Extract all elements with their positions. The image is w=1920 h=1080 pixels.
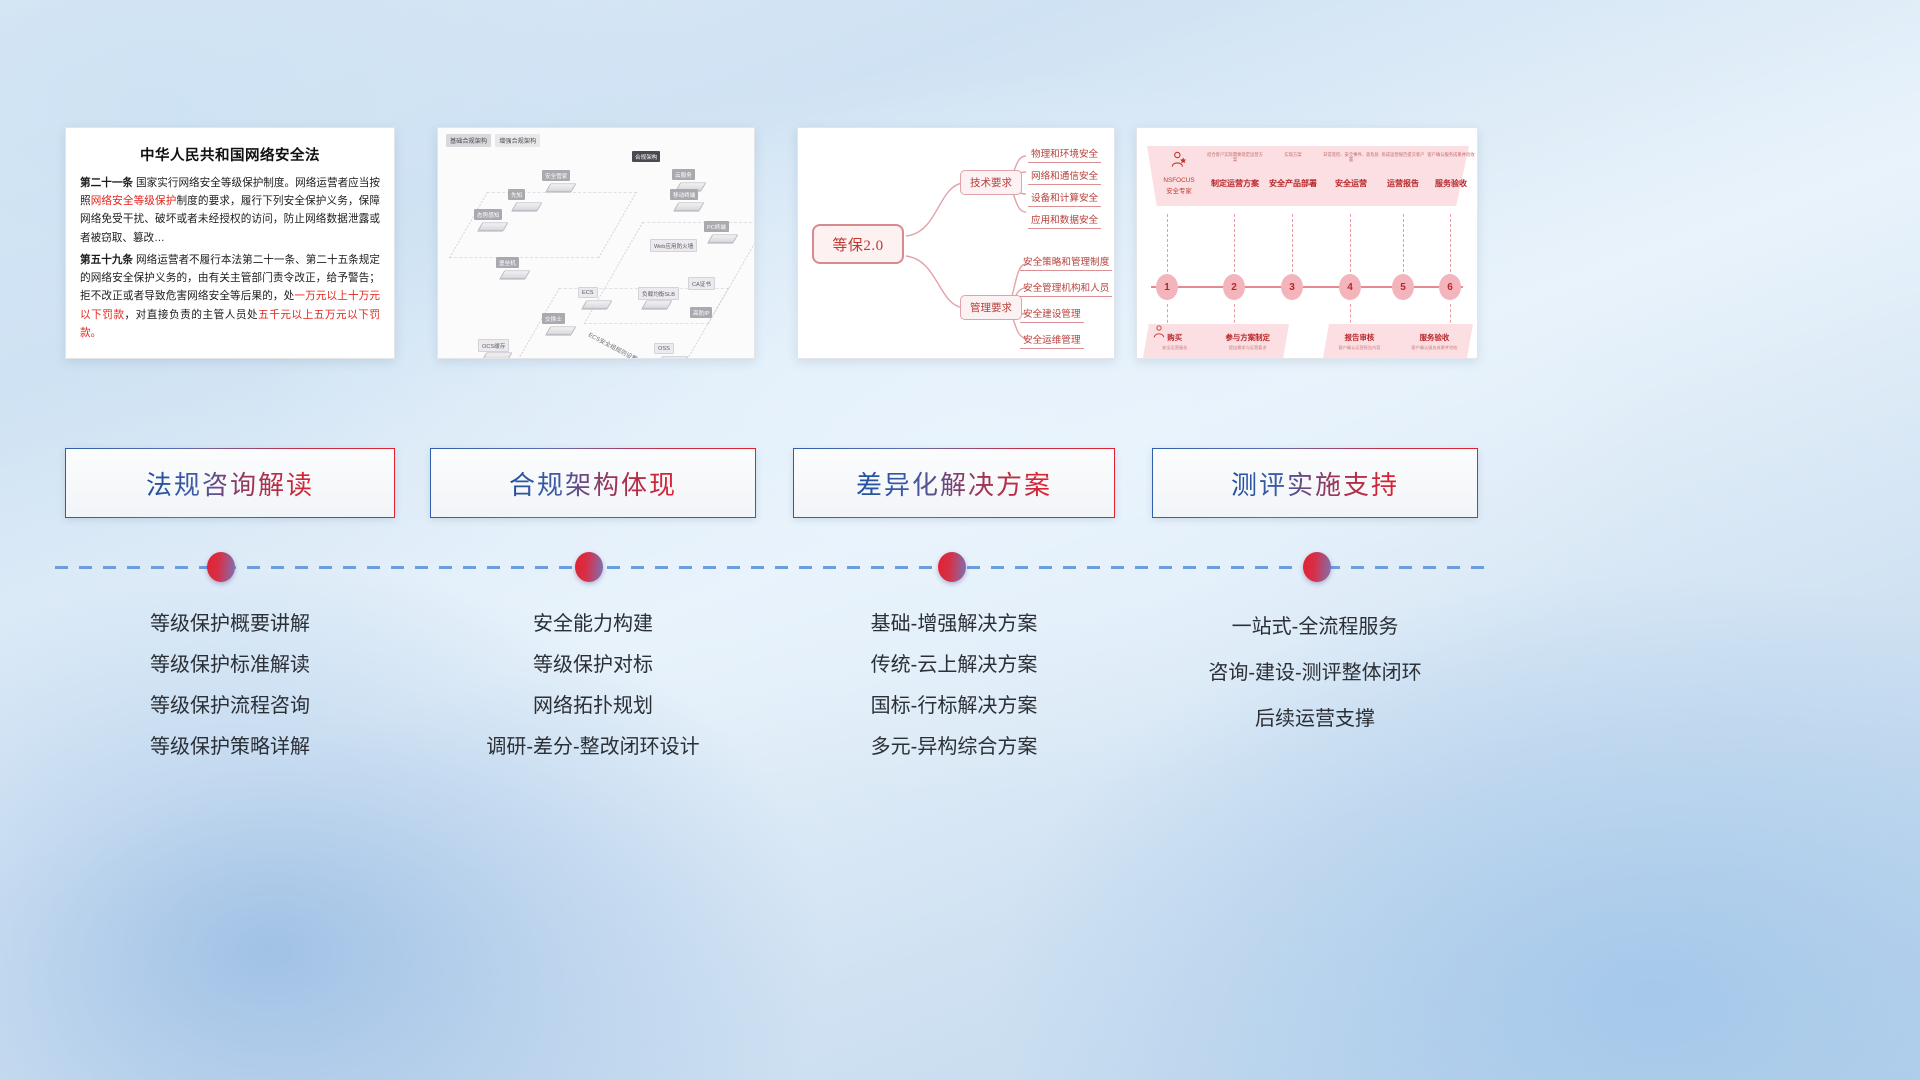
node-label: ECS	[578, 287, 598, 298]
step-number: 5	[1392, 274, 1414, 300]
step-dash	[1292, 214, 1293, 272]
law-article-59: 第五十九条 网络运营者不履行本法第二十一条、第二十五条规定的网络安全保护义务的，…	[80, 251, 380, 342]
mindmap-leaf: 物理和环境安全	[1028, 146, 1101, 163]
section-heading-box-2[interactable]: 合规架构体现	[430, 448, 756, 518]
node-label: 高防IP	[690, 307, 712, 318]
node-label: PC终端	[704, 221, 729, 232]
node-glyph	[642, 300, 673, 308]
section-list-3: 基础-增强解决方案 传统-云上解决方案 国标-行标解决方案 多元-异构综合方案	[793, 604, 1115, 768]
step-sub: 日常巡检、安全事件、高危处置	[1323, 152, 1379, 166]
mindmap: 等保2.0 技术要求 管理要求 物理和环境安全 网络和通信安全 设备和计算安全 …	[798, 128, 1114, 358]
section-heading-label: 测评实施支持	[1231, 465, 1399, 502]
timeline-dot-2[interactable]	[575, 552, 603, 582]
law-article-21: 第二十一条 国家实行网络安全等级保护制度。网络运营者应当按照网络安全等级保护制度…	[80, 174, 380, 247]
node-glyph	[582, 300, 613, 308]
nsfocus-expert: NSFOCUS 安全专家	[1155, 150, 1203, 196]
section-list-2: 安全能力构建 等级保护对标 网络拓扑规划 调研-差分-整改闭环设计	[430, 604, 756, 768]
list-item: 调研-差分-整改闭环设计	[430, 727, 756, 768]
list-item: 一站式-全流程服务	[1152, 604, 1478, 650]
timeline-dot-4[interactable]	[1303, 552, 1331, 582]
footer-sub: 提出需求与运营要求	[1226, 345, 1270, 350]
mindmap-leaf: 安全运维管理	[1020, 332, 1084, 349]
footer-item: 参与方案制定 提出需求与运营要求	[1222, 332, 1274, 350]
step-title: 制定运营方案	[1207, 178, 1263, 189]
list-item: 等级保护对标	[430, 645, 756, 686]
list-item: 等级保护策略详解	[65, 727, 395, 768]
node-label: 交换士	[542, 313, 565, 324]
mindmap-branch-management: 管理要求	[960, 295, 1022, 320]
mindmap-branch-technical: 技术要求	[960, 170, 1022, 195]
nsfocus-timeline: NSFOCUS 安全专家 结合客户实际需要现定运营方案 制定运营方案 实现方案 …	[1137, 128, 1477, 358]
article-59-text-b: ，对直接负责的主管人员处	[125, 309, 259, 321]
node-label: OCS缓存	[478, 339, 509, 352]
nsfocus-step-col: 日常巡检、安全事件、高危处置 安全运营	[1323, 152, 1379, 189]
step-title: 安全运营	[1323, 178, 1379, 189]
node-label: Web应用防火墙	[650, 239, 697, 252]
step-dash	[1234, 214, 1235, 272]
list-item: 基础-增强解决方案	[793, 604, 1115, 645]
node-glyph	[708, 234, 739, 242]
step-dash	[1403, 214, 1404, 272]
topology-node: OCS缓存	[484, 350, 510, 359]
topology-tabs: 基础合规架构 增强合规架构	[446, 134, 540, 147]
list-item: 等级保护流程咨询	[65, 686, 395, 727]
nsfocus-brand: NSFOCUS	[1155, 177, 1203, 186]
section-heading-label: 合规架构体现	[509, 465, 677, 502]
node-label: 先知	[508, 189, 525, 200]
footer-item: 服务验收 客户确认服务成果并验收	[1407, 332, 1461, 350]
section-heading-label: 差异化解决方案	[856, 465, 1052, 502]
section-heading-box-1[interactable]: 法规咨询解读	[65, 448, 395, 518]
list-item: 咨询-建设-测评整体闭环	[1152, 650, 1478, 696]
list-item: 传统-云上解决方案	[793, 645, 1115, 686]
article-59-label: 第五十九条	[80, 254, 133, 266]
card-mindmap-dengbao: 等保2.0 技术要求 管理要求 物理和环境安全 网络和通信安全 设备和计算安全 …	[797, 127, 1115, 359]
node-label: 安全管家	[542, 170, 570, 181]
card-compliance-architecture: 基础合规架构 增强合规架构 态势感知 先知 安全管家 堡垒机 合规架构 云服务 …	[437, 127, 755, 359]
mindmap-leaf: 安全管理机构和人员	[1020, 280, 1112, 297]
topology-tab-basic[interactable]: 基础合规架构	[446, 134, 491, 147]
section-list-4: 一站式-全流程服务 咨询-建设-测评整体闭环 后续运营支撑	[1152, 604, 1478, 742]
nsfocus-step-col: 结合客户实际需要现定运营方案 制定运营方案	[1207, 152, 1263, 189]
list-item: 多元-异构综合方案	[793, 727, 1115, 768]
card-nsfocus-service-timeline: NSFOCUS 安全专家 结合客户实际需要现定运营方案 制定运营方案 实现方案 …	[1136, 127, 1478, 359]
topology-node: ECS	[584, 298, 610, 311]
node-glyph	[658, 356, 689, 359]
timeline-axis	[1151, 286, 1463, 288]
node-glyph	[674, 202, 705, 210]
node-label: OSS	[654, 343, 674, 354]
node-glyph	[482, 352, 513, 359]
step-number: 2	[1223, 274, 1245, 300]
topology-node: PC终端	[710, 232, 736, 245]
customer-person-icon	[1151, 324, 1167, 345]
law-title: 中华人民共和国网络安全法	[80, 144, 380, 165]
step-number: 6	[1439, 274, 1461, 300]
footer-title: 服务验收	[1411, 332, 1457, 343]
nsfocus-brand-sub: 安全专家	[1155, 188, 1203, 197]
step-title: 安全产品部署	[1265, 178, 1321, 189]
nsfocus-footer-right: 报告审核 客户确认运营报告内容 服务验收 客户确认服务成果并验收	[1323, 324, 1473, 358]
node-label: 负载均衡SLB	[638, 287, 679, 300]
mindmap-root: 等保2.0	[812, 224, 904, 264]
topology-node: 移动终端	[676, 200, 702, 213]
step-dash	[1167, 214, 1168, 272]
timeline-dot-1[interactable]	[207, 552, 235, 582]
list-item: 等级保护标准解读	[65, 645, 395, 686]
section-heading-box-3[interactable]: 差异化解决方案	[793, 448, 1115, 518]
mindmap-leaf: 安全策略和管理制度	[1020, 254, 1112, 271]
topology-node: 安全管家	[548, 181, 574, 194]
step-sub: 客户确认服务成果并验收	[1423, 152, 1478, 166]
footer-item: 报告审核 客户确认运营报告内容	[1335, 332, 1385, 350]
node-label: 堡垒机	[496, 257, 519, 268]
topology-node: 先知	[514, 200, 540, 213]
node-label: 合规架构	[632, 151, 660, 162]
card-network-security-law: 中华人民共和国网络安全法 第二十一条 国家实行网络安全等级保护制度。网络运营者应…	[65, 127, 395, 359]
step-dash	[1350, 214, 1351, 272]
node-glyph	[546, 183, 577, 191]
topology-node: 堡垒机	[502, 268, 528, 281]
timeline-dashed-line	[55, 566, 1485, 569]
node-label: CA证书	[688, 277, 715, 290]
section-heading-box-4[interactable]: 测评实施支持	[1152, 448, 1478, 518]
topology-tab-enhanced[interactable]: 增强合规架构	[495, 134, 540, 147]
node-label: 态势感知	[474, 209, 502, 220]
section-heading-label: 法规咨询解读	[146, 465, 314, 502]
node-glyph	[512, 202, 543, 210]
mindmap-leaf: 网络和通信安全	[1028, 168, 1101, 185]
topology-plate-a	[449, 192, 637, 258]
topology-node: 交换士	[548, 324, 574, 337]
nsfocus-step-col: 客户确认服务成果并验收 服务验收	[1423, 152, 1478, 189]
mindmap-leaf: 安全建设管理	[1020, 306, 1084, 323]
list-item: 后续运营支撑	[1152, 696, 1478, 742]
topology-node: OSS	[660, 354, 686, 359]
step-title: 服务验收	[1423, 178, 1478, 189]
expert-person-icon	[1169, 150, 1189, 170]
footer-title: 报告审核	[1339, 332, 1381, 343]
node-glyph	[478, 222, 509, 230]
footer-sub: 客户确认运营报告内容	[1339, 345, 1381, 350]
mindmap-leaf: 设备和计算安全	[1028, 190, 1101, 207]
footer-sub: 客户确认服务成果并验收	[1411, 345, 1457, 350]
topology-node: 负载均衡SLB	[644, 298, 670, 311]
step-sub: 实现方案	[1265, 152, 1321, 166]
mindmap-leaf: 应用和数据安全	[1028, 212, 1101, 229]
step-number: 4	[1339, 274, 1361, 300]
list-item: 网络拓扑规划	[430, 686, 756, 727]
step-number: 3	[1281, 274, 1303, 300]
topology-diagram: 基础合规架构 增强合规架构 态势感知 先知 安全管家 堡垒机 合规架构 云服务 …	[438, 128, 754, 358]
node-glyph	[546, 326, 577, 334]
article-21-highlight: 网络安全等级保护	[91, 195, 177, 207]
list-item: 等级保护概要讲解	[65, 604, 395, 645]
step-dash	[1450, 214, 1451, 272]
article-21-label: 第二十一条	[80, 177, 133, 189]
node-label: 移动终端	[670, 189, 698, 200]
topology-node: 态势感知	[480, 220, 506, 233]
footer-title: 参与方案制定	[1226, 332, 1270, 343]
footer-sub: 安全运营服务	[1162, 345, 1187, 350]
node-label: 云服务	[672, 169, 695, 180]
list-item: 国标-行标解决方案	[793, 686, 1115, 727]
nsfocus-step-col: 实现方案 安全产品部署	[1265, 152, 1321, 189]
list-item: 安全能力构建	[430, 604, 756, 645]
timeline-dot-3[interactable]	[938, 552, 966, 582]
slide-canvas: 中华人民共和国网络安全法 第二十一条 国家实行网络安全等级保护制度。网络运营者应…	[0, 0, 1920, 1080]
step-number: 1	[1156, 274, 1178, 300]
node-glyph	[500, 270, 531, 278]
step-sub: 结合客户实际需要现定运营方案	[1207, 152, 1263, 166]
section-list-1: 等级保护概要讲解 等级保护标准解读 等级保护流程咨询 等级保护策略详解	[65, 604, 395, 768]
